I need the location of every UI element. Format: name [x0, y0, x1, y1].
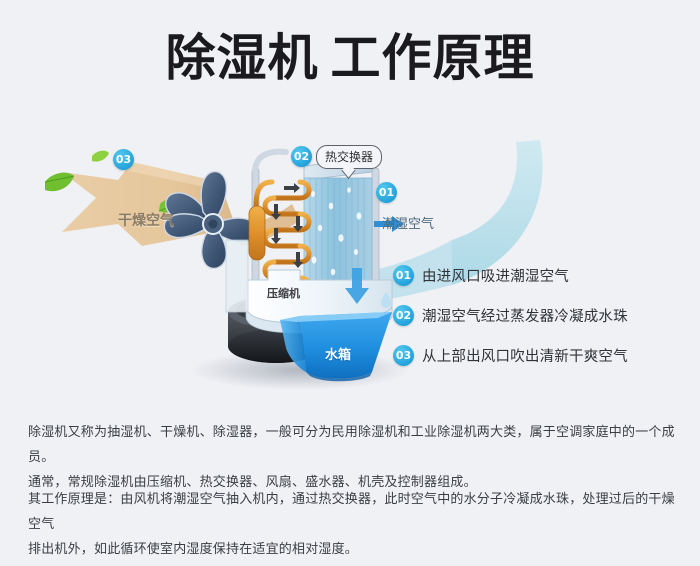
- leaf-icon: [45, 173, 74, 192]
- accumulator-cylinder: [249, 206, 265, 260]
- leaf-icon: [92, 151, 109, 162]
- legend-badge-03: 03: [393, 345, 414, 366]
- page-title: 除湿机工作原理: [166, 28, 535, 88]
- heat-exchanger-callout: 热交换器: [316, 145, 382, 169]
- legend-text-03: 从上部出风口吹出清新干爽空气: [422, 345, 628, 366]
- page-title-container: 除湿机工作原理: [0, 28, 700, 88]
- label-humid-air: 潮湿空气: [382, 213, 434, 232]
- steps-legend: 01 由进风口吸进潮湿空气 02 潮湿空气经过蒸发器冷凝成水珠 03 从上部出风…: [393, 255, 693, 375]
- legend-text-02: 潮湿空气经过蒸发器冷凝成水珠: [422, 305, 628, 326]
- page-title-part-2: 工作原理: [331, 29, 535, 87]
- badge-01: 01: [376, 182, 397, 203]
- description-p2-line1: 其工作原理是：由风机将潮湿空气抽入机内，通过热交换器，此时空气中的水分子冷凝成水…: [28, 487, 678, 537]
- label-compressor: 压缩机: [267, 285, 300, 301]
- legend-badge-02: 02: [393, 305, 414, 326]
- badge-03: 03: [113, 149, 134, 170]
- badge-02: 02: [291, 146, 312, 167]
- label-dry-air: 干燥空气: [118, 210, 174, 230]
- description-paragraph-1: 除湿机又称为抽湿机、干燥机、除湿器，一般可分为民用除湿机和工业除湿机两大类，属于…: [28, 420, 678, 495]
- page-title-part-1: 除湿机: [166, 29, 319, 87]
- legend-item: 02 潮湿空气经过蒸发器冷凝成水珠: [393, 295, 693, 335]
- legend-item: 03 从上部出风口吹出清新干爽空气: [393, 335, 693, 375]
- legend-text-01: 由进风口吸进潮湿空气: [422, 265, 569, 286]
- description-p2-line2: 排出机外，如此循环使室内湿度保持在适宜的相对湿度。: [28, 537, 678, 562]
- label-water-tank: 水箱: [325, 344, 351, 363]
- legend-badge-01: 01: [393, 265, 414, 286]
- legend-item: 01 由进风口吸进潮湿空气: [393, 255, 693, 295]
- description-paragraph-2: 其工作原理是：由风机将潮湿空气抽入机内，通过热交换器，此时空气中的水分子冷凝成水…: [28, 487, 678, 562]
- description-p1-line1: 除湿机又称为抽湿机、干燥机、除湿器，一般可分为民用除湿机和工业除湿机两大类，属于…: [28, 420, 678, 470]
